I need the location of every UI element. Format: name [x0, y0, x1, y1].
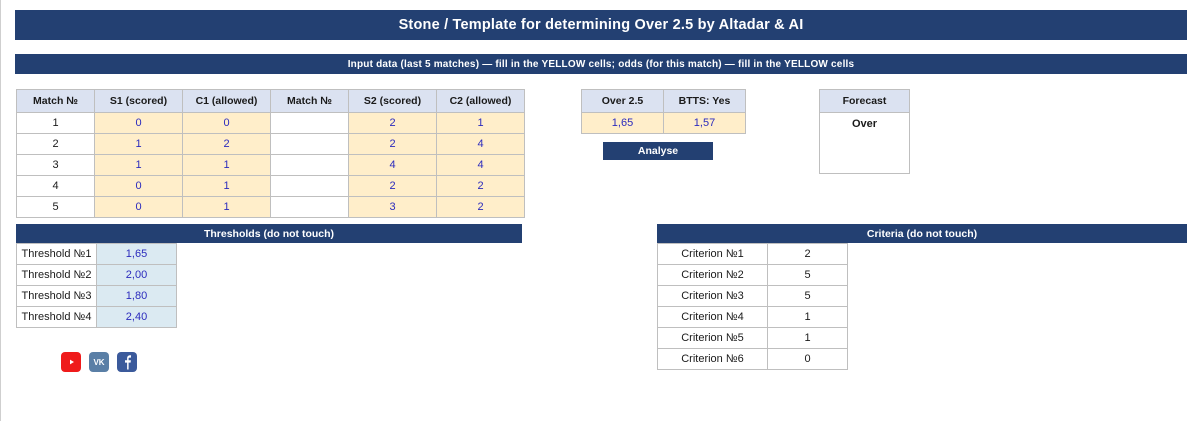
forecast-box: Forecast Over	[819, 89, 910, 174]
odds-table: Over 2.5 BTTS: Yes 1,65 1,57	[581, 89, 746, 134]
column-header-btts: BTTS: Yes	[664, 90, 746, 113]
instructions-banner: Input data (last 5 matches) — fill in th…	[15, 54, 1187, 74]
cell-match-number: 1	[17, 113, 95, 134]
criterion-value: 1	[768, 307, 848, 328]
cell-s2-input[interactable]: 3	[349, 197, 437, 218]
cell-match-number-2	[271, 155, 349, 176]
column-header-s2: S2 (scored)	[349, 90, 437, 113]
threshold-label: Threshold №1	[17, 244, 97, 265]
cell-match-number-2	[271, 176, 349, 197]
forecast-header: Forecast	[820, 90, 910, 113]
spreadsheet-page: Stone / Template for determining Over 2.…	[0, 0, 1200, 421]
criterion-label: Criterion №2	[658, 265, 768, 286]
cell-c1-input[interactable]: 1	[183, 197, 271, 218]
forecast-spacer-row	[820, 135, 910, 174]
table-row: Threshold №2 2,00	[17, 265, 177, 286]
criterion-label: Criterion №1	[658, 244, 768, 265]
cell-match-number: 2	[17, 134, 95, 155]
cell-s2-input[interactable]: 2	[349, 134, 437, 155]
table-row: Criterion №3 5	[658, 286, 848, 307]
social-links: VK	[61, 352, 137, 372]
cell-s1-input[interactable]: 0	[95, 176, 183, 197]
page-title: Stone / Template for determining Over 2.…	[15, 10, 1187, 40]
criterion-value: 5	[768, 286, 848, 307]
threshold-label: Threshold №3	[17, 286, 97, 307]
column-header-s1: S1 (scored)	[95, 90, 183, 113]
cell-s2-input[interactable]: 4	[349, 155, 437, 176]
cell-s2-input[interactable]: 2	[349, 113, 437, 134]
cell-c1-input[interactable]: 1	[183, 176, 271, 197]
table-row: 1 0 0 2 1	[17, 113, 525, 134]
thresholds-table: Threshold №1 1,65 Threshold №2 2,00 Thre…	[16, 243, 177, 328]
cell-btts-odds[interactable]: 1,57	[664, 113, 746, 134]
input-matches-table: Match № S1 (scored) C1 (allowed) Match №…	[16, 89, 525, 218]
column-header-match1: Match №	[17, 90, 95, 113]
table-row: Criterion №2 5	[658, 265, 848, 286]
criteria-section-header: Criteria (do not touch)	[657, 224, 1187, 243]
odds-value-row: 1,65 1,57	[582, 113, 746, 134]
cell-c2-input[interactable]: 2	[437, 197, 525, 218]
table-row: 5 0 1 3 2	[17, 197, 525, 218]
forecast-header-row: Forecast	[820, 90, 910, 113]
table-row: 2 1 2 2 4	[17, 134, 525, 155]
vk-icon[interactable]: VK	[89, 352, 109, 372]
table-row: Criterion №1 2	[658, 244, 848, 265]
criterion-value: 1	[768, 328, 848, 349]
table-row: Threshold №4 2,40	[17, 307, 177, 328]
thresholds-section-header: Thresholds (do not touch)	[16, 224, 522, 243]
odds-header-row: Over 2.5 BTTS: Yes	[582, 90, 746, 113]
cell-c2-input[interactable]: 2	[437, 176, 525, 197]
forecast-spacer	[820, 135, 910, 174]
cell-match-number-2	[271, 113, 349, 134]
table-row: Threshold №3 1,80	[17, 286, 177, 307]
table-header-row: Match № S1 (scored) C1 (allowed) Match №…	[17, 90, 525, 113]
table-row: 4 0 1 2 2	[17, 176, 525, 197]
cell-over25-odds[interactable]: 1,65	[582, 113, 664, 134]
threshold-value: 2,40	[97, 307, 177, 328]
cell-c2-input[interactable]: 1	[437, 113, 525, 134]
criterion-value: 5	[768, 265, 848, 286]
cell-c2-input[interactable]: 4	[437, 134, 525, 155]
cell-s2-input[interactable]: 2	[349, 176, 437, 197]
table-row: 3 1 1 4 4	[17, 155, 525, 176]
facebook-icon[interactable]	[117, 352, 137, 372]
criteria-table: Criterion №1 2 Criterion №2 5 Criterion …	[657, 243, 848, 370]
column-header-c1: C1 (allowed)	[183, 90, 271, 113]
cell-match-number-2	[271, 134, 349, 155]
cell-match-number: 4	[17, 176, 95, 197]
forecast-value-row: Over	[820, 113, 910, 136]
threshold-value: 1,80	[97, 286, 177, 307]
criterion-value: 0	[768, 349, 848, 370]
table-row: Criterion №6 0	[658, 349, 848, 370]
threshold-label: Threshold №2	[17, 265, 97, 286]
cell-match-number: 5	[17, 197, 95, 218]
criterion-label: Criterion №3	[658, 286, 768, 307]
cell-c2-input[interactable]: 4	[437, 155, 525, 176]
criterion-label: Criterion №6	[658, 349, 768, 370]
cell-match-number-2	[271, 197, 349, 218]
cell-c1-input[interactable]: 0	[183, 113, 271, 134]
cell-s1-input[interactable]: 1	[95, 155, 183, 176]
criterion-label: Criterion №4	[658, 307, 768, 328]
youtube-icon[interactable]	[61, 352, 81, 372]
table-row: Criterion №5 1	[658, 328, 848, 349]
cell-match-number: 3	[17, 155, 95, 176]
threshold-value: 1,65	[97, 244, 177, 265]
cell-s1-input[interactable]: 0	[95, 113, 183, 134]
threshold-value: 2,00	[97, 265, 177, 286]
analyse-button[interactable]: Analyse	[603, 142, 713, 160]
cell-c1-input[interactable]: 1	[183, 155, 271, 176]
svg-text:VK: VK	[93, 358, 104, 367]
threshold-label: Threshold №4	[17, 307, 97, 328]
column-header-match2: Match №	[271, 90, 349, 113]
cell-c1-input[interactable]: 2	[183, 134, 271, 155]
table-row: Criterion №4 1	[658, 307, 848, 328]
forecast-value: Over	[820, 113, 910, 136]
criterion-value: 2	[768, 244, 848, 265]
cell-s1-input[interactable]: 1	[95, 134, 183, 155]
cell-s1-input[interactable]: 0	[95, 197, 183, 218]
column-header-c2: C2 (allowed)	[437, 90, 525, 113]
table-row: Threshold №1 1,65	[17, 244, 177, 265]
criterion-label: Criterion №5	[658, 328, 768, 349]
column-header-over25: Over 2.5	[582, 90, 664, 113]
